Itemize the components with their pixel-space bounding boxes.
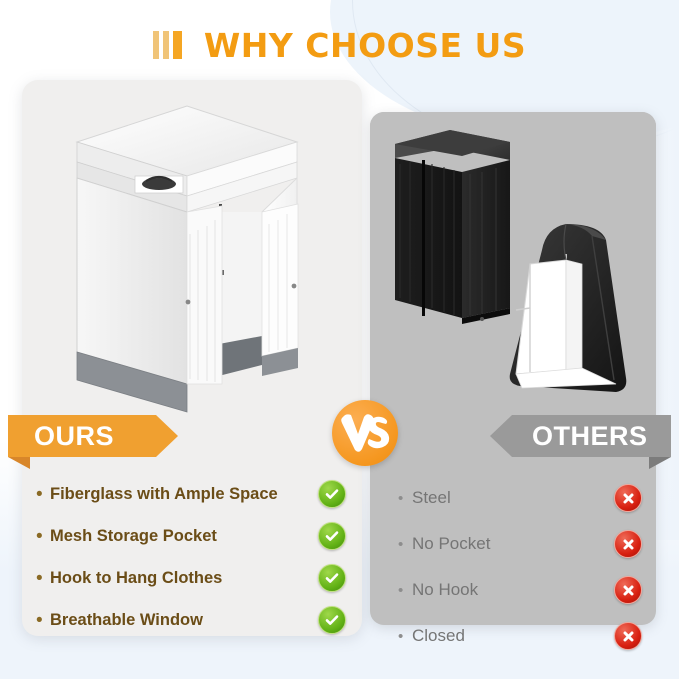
others-feature-list: • Steel • No Pocket • No Hook • Closed — [398, 480, 642, 664]
ours-product-image — [22, 84, 362, 414]
bullet-icon: • — [36, 527, 50, 546]
page-title: WHY CHOOSE US — [204, 26, 526, 65]
bullet-icon: • — [36, 485, 50, 504]
others-banner: OTHERS — [490, 415, 671, 457]
feature-label: Fiberglass with Ample Space — [50, 485, 318, 504]
bullet-icon: • — [398, 583, 412, 598]
green-check-icon — [318, 564, 346, 592]
red-cross-icon — [614, 484, 642, 512]
feature-label: Mesh Storage Pocket — [50, 527, 318, 546]
green-check-icon — [318, 606, 346, 634]
bullet-icon: • — [36, 569, 50, 588]
list-item: • Mesh Storage Pocket — [36, 518, 346, 554]
red-cross-icon — [614, 530, 642, 558]
feature-label: Hook to Hang Clothes — [50, 569, 318, 588]
bullet-icon: • — [398, 537, 412, 552]
red-cross-icon — [614, 622, 642, 650]
ours-banner: OURS — [8, 415, 178, 457]
feature-label: Steel — [412, 488, 614, 508]
others-product-image — [370, 112, 656, 412]
list-item: • Fiberglass with Ample Space — [36, 476, 346, 512]
feature-label: No Hook — [412, 580, 614, 600]
list-item: • No Pocket — [398, 526, 642, 562]
green-check-icon — [318, 480, 346, 508]
green-check-icon — [318, 522, 346, 550]
others-banner-label: OTHERS — [532, 421, 648, 452]
list-item: • No Hook — [398, 572, 642, 608]
ours-banner-label: OURS — [34, 421, 114, 452]
bullet-icon: • — [398, 629, 412, 644]
ours-feature-list: • Fiberglass with Ample Space • Mesh Sto… — [36, 476, 346, 644]
feature-label: Closed — [412, 626, 614, 646]
vs-badge-icon — [332, 400, 398, 466]
list-item: • Hook to Hang Clothes — [36, 560, 346, 596]
feature-label: No Pocket — [412, 534, 614, 554]
bullet-icon: • — [398, 491, 412, 506]
bullet-icon: • — [36, 611, 50, 630]
list-item: • Closed — [398, 618, 642, 654]
red-cross-icon — [614, 576, 642, 604]
page-title-row: WHY CHOOSE US — [0, 22, 679, 68]
infographic-canvas: WHY CHOOSE US — [0, 0, 679, 679]
list-item: • Breathable Window — [36, 602, 346, 638]
three-vertical-bars-icon — [153, 30, 182, 60]
list-item: • Steel — [398, 480, 642, 516]
feature-label: Breathable Window — [50, 611, 318, 630]
